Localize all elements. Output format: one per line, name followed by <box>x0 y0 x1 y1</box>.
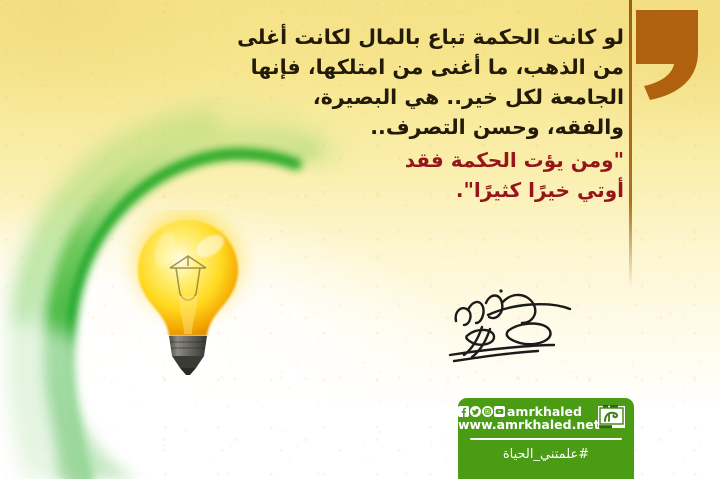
signature-mark <box>442 283 627 369</box>
youtube-icon[interactable] <box>494 406 505 417</box>
brand-handle-column: amrkhaled www.amrkhaled.net <box>458 406 591 432</box>
website-label[interactable]: www.amrkhaled.net <box>458 419 591 432</box>
facebook-icon[interactable] <box>458 406 469 417</box>
light-bulb-icon <box>118 210 258 375</box>
verse-line-2: أوتي خيرًا كثيرًا". <box>132 175 624 205</box>
quote-line-4: والفقه، وحسن التصرف.. <box>132 112 624 142</box>
quote-line-2: من الذهب، ما أغنى من امتلكها، فإنها <box>132 52 624 82</box>
quote-line-3: الجامعة لكل خير.. هي البصيرة، <box>132 82 624 112</box>
quote-text-block: لو كانت الحكمة تباع بالمال لكانت أغلى من… <box>132 22 624 205</box>
poster-canvas: لو كانت الحكمة تباع بالمال لكانت أغلى من… <box>0 0 720 479</box>
twitter-icon[interactable] <box>470 406 481 417</box>
instagram-icon[interactable] <box>482 406 493 417</box>
vertical-rule-divider <box>629 0 632 288</box>
hashtag-label[interactable]: #علمتني_الحياة <box>458 447 634 462</box>
quotation-mark-icon <box>636 0 698 102</box>
quote-line-1: لو كانت الحكمة تباع بالمال لكانت أغلى <box>132 22 624 52</box>
banner-divider <box>470 438 622 440</box>
banner-top-row: amrkhaled www.amrkhaled.net <box>458 398 634 433</box>
amr-khaled-logo <box>597 404 626 433</box>
brand-footer-banner[interactable]: amrkhaled www.amrkhaled.net #علمتني_الحي… <box>458 398 634 479</box>
verse-line-1: "ومن يؤت الحكمة فقد <box>132 145 624 175</box>
